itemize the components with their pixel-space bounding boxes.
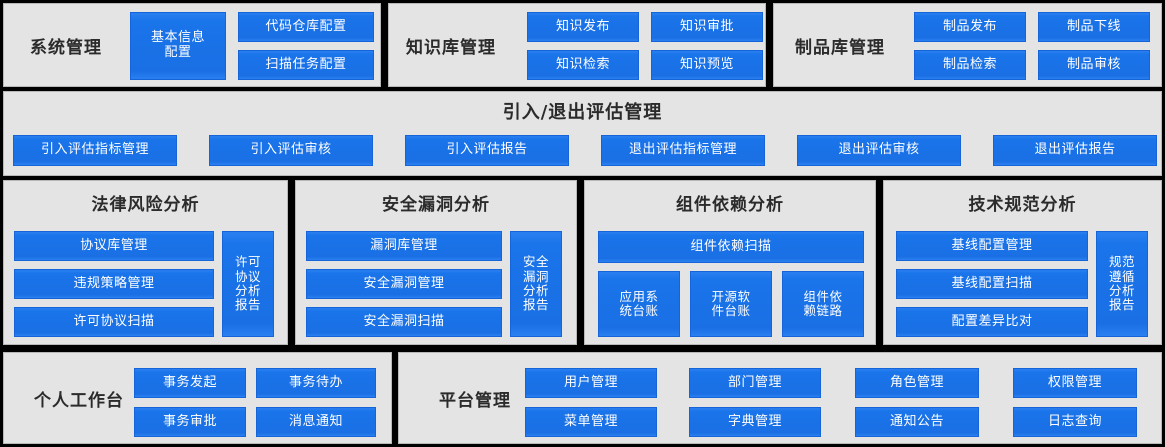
button-license-library-mgmt[interactable]: 协议库管理	[14, 231, 214, 261]
panel-title-technical-specification-analysis: 技术规范分析	[884, 190, 1161, 215]
button-license-agreement-scan[interactable]: 许可协议扫描	[14, 307, 214, 337]
button-artifact-search[interactable]: 制品检索	[914, 50, 1026, 80]
button-artifact-review[interactable]: 制品审核	[1038, 50, 1150, 80]
panel-security-vulnerability-analysis: 安全漏洞分析 漏洞库管理 安全漏洞管理 安全漏洞扫描 安全 漏洞 分析 报告	[295, 180, 577, 345]
button-knowledge-preview[interactable]: 知识预览	[651, 50, 763, 80]
button-vuln-library-mgmt[interactable]: 漏洞库管理	[306, 231, 502, 261]
button-security-vuln-scan[interactable]: 安全漏洞扫描	[306, 307, 502, 337]
button-dictionary-mgmt[interactable]: 字典管理	[689, 407, 821, 437]
button-baseline-config-scan[interactable]: 基线配置扫描	[896, 269, 1088, 299]
group-label-artifact-repository-management: 制品库管理	[780, 4, 900, 86]
button-scan-task-config[interactable]: 扫描任务配置	[238, 50, 374, 80]
button-security-vuln-analysis-report[interactable]: 安全 漏洞 分析 报告	[510, 231, 562, 337]
button-code-repo-config[interactable]: 代码仓库配置	[238, 12, 374, 42]
button-spec-compliance-analysis-report[interactable]: 规范 遵循 分析 报告	[1096, 231, 1148, 337]
panel-component-dependency-analysis: 组件依赖分析 组件依赖扫描 应用系 统台账 开源软 件台账 组件依 赖链路	[584, 180, 876, 345]
button-app-system-ledger[interactable]: 应用系 统台账	[598, 271, 680, 337]
button-component-dependency-chain[interactable]: 组件依 赖链路	[782, 271, 864, 337]
button-security-vuln-mgmt[interactable]: 安全漏洞管理	[306, 269, 502, 299]
button-knowledge-approval[interactable]: 知识审批	[651, 12, 763, 42]
button-artifact-offline[interactable]: 制品下线	[1038, 12, 1150, 42]
panel-title-introduction-exit-evaluation: 引入/退出评估管理	[4, 98, 1161, 124]
button-permission-mgmt[interactable]: 权限管理	[1013, 368, 1137, 398]
sitemap-canvas: 系统管理 基本信息 配置 代码仓库配置 扫描任务配置 知识库管理 知识发布 知识…	[0, 0, 1165, 447]
panel-knowledge-base-management: 知识库管理 知识发布 知识审批 知识检索 知识预览	[388, 3, 766, 87]
panel-introduction-exit-evaluation-management: 引入/退出评估管理 引入评估指标管理 引入评估审核 引入评估报告 退出评估指标管…	[3, 91, 1162, 176]
panel-artifact-repository-management: 制品库管理 制品发布 制品下线 制品检索 制品审核	[773, 3, 1162, 87]
panel-personal-workbench: 个人工作台 事务发起 事务待办 事务审批 消息通知	[3, 352, 392, 444]
panel-title-legal-risk-analysis: 法律风险分析	[4, 190, 287, 215]
button-log-query[interactable]: 日志查询	[1013, 407, 1137, 437]
button-user-mgmt[interactable]: 用户管理	[525, 368, 657, 398]
group-label-platform-management: 平台管理	[405, 353, 545, 443]
button-artifact-publish[interactable]: 制品发布	[914, 12, 1026, 42]
button-exit-eval-report[interactable]: 退出评估报告	[993, 135, 1157, 166]
button-message-notice[interactable]: 消息通知	[256, 407, 376, 437]
button-exit-eval-metric-mgmt[interactable]: 退出评估指标管理	[601, 135, 765, 166]
button-knowledge-publish[interactable]: 知识发布	[527, 12, 639, 42]
button-task-todo[interactable]: 事务待办	[256, 368, 376, 398]
button-baseline-config-mgmt[interactable]: 基线配置管理	[896, 231, 1088, 261]
button-department-mgmt[interactable]: 部门管理	[689, 368, 821, 398]
group-label-knowledge-base-management: 知识库管理	[395, 4, 507, 86]
group-label-system-management: 系统管理	[10, 4, 122, 86]
button-open-source-software-ledger[interactable]: 开源软 件台账	[690, 271, 772, 337]
button-exit-eval-review[interactable]: 退出评估审核	[797, 135, 961, 166]
button-notice-announcement[interactable]: 通知公告	[855, 407, 979, 437]
button-knowledge-search[interactable]: 知识检索	[527, 50, 639, 80]
button-violation-policy-mgmt[interactable]: 违规策略管理	[14, 269, 214, 299]
button-config-diff-compare[interactable]: 配置差异比对	[896, 307, 1088, 337]
panel-title-component-dependency-analysis: 组件依赖分析	[585, 190, 875, 215]
panel-legal-risk-analysis: 法律风险分析 协议库管理 违规策略管理 许可协议扫描 许可 协议 分析 报告	[3, 180, 288, 345]
button-intro-eval-review[interactable]: 引入评估审核	[209, 135, 373, 166]
button-component-dependency-scan[interactable]: 组件依赖扫描	[598, 231, 864, 263]
button-task-approval[interactable]: 事务审批	[134, 407, 246, 437]
panel-platform-management: 平台管理 用户管理 部门管理 角色管理 权限管理 菜单管理 字典管理 通知公告 …	[398, 352, 1162, 444]
button-role-mgmt[interactable]: 角色管理	[855, 368, 979, 398]
button-intro-eval-metric-mgmt[interactable]: 引入评估指标管理	[13, 135, 177, 166]
button-menu-mgmt[interactable]: 菜单管理	[525, 407, 657, 437]
panel-technical-specification-analysis: 技术规范分析 基线配置管理 基线配置扫描 配置差异比对 规范 遵循 分析 报告	[883, 180, 1162, 345]
button-task-initiate[interactable]: 事务发起	[134, 368, 246, 398]
panel-title-security-vulnerability-analysis: 安全漏洞分析	[296, 190, 576, 215]
button-license-analysis-report[interactable]: 许可 协议 分析 报告	[222, 231, 274, 337]
button-intro-eval-report[interactable]: 引入评估报告	[405, 135, 569, 166]
group-label-personal-workbench: 个人工作台	[14, 353, 144, 443]
panel-system-management: 系统管理 基本信息 配置 代码仓库配置 扫描任务配置	[3, 3, 381, 87]
button-basic-info-config[interactable]: 基本信息 配置	[130, 12, 226, 80]
